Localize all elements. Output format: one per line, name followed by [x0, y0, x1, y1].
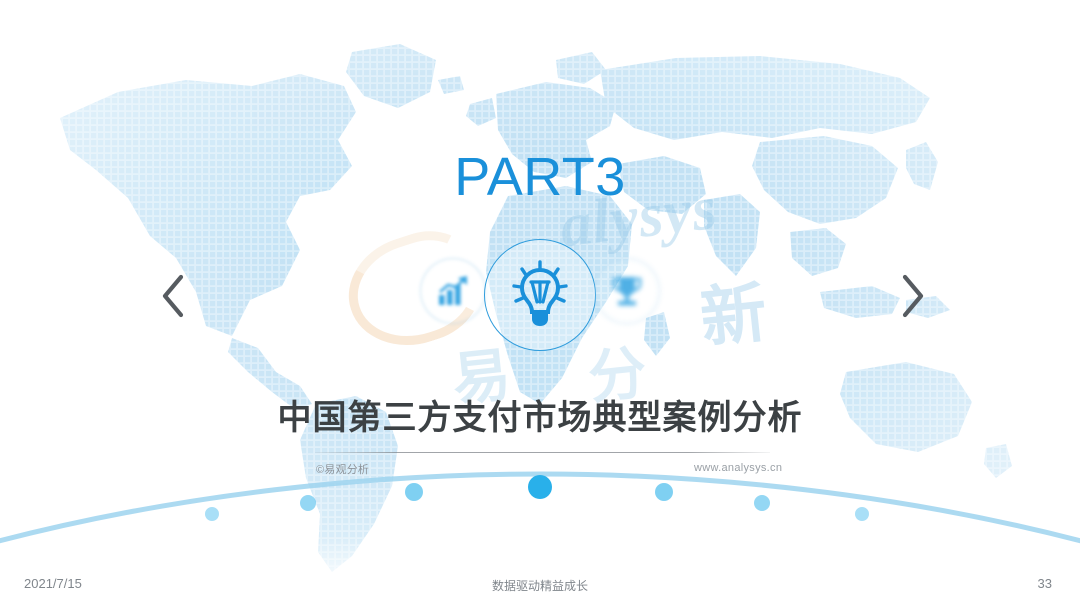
section-subtitle: 中国第三方支付市场典型案例分析 [0, 400, 1080, 437]
page-title: PART3 [0, 150, 1080, 204]
section-icon-lightbulb[interactable] [484, 239, 596, 351]
subtitle-divider [315, 452, 770, 453]
footer-tagline: 数据驱动精益成长 [0, 577, 1080, 594]
chevron-right-icon [899, 273, 927, 319]
prev-section-button[interactable] [150, 268, 196, 324]
slide-root: alysys 新 易 分 PART3 [0, 0, 1080, 608]
slide-content: PART3 [0, 0, 1080, 608]
chevron-left-icon [159, 273, 187, 319]
section-icon-bar-chart[interactable] [420, 258, 486, 324]
footer-page-number: 33 [1038, 576, 1052, 591]
website-url: www.analysys.cn [694, 462, 782, 474]
section-icon-trophy[interactable] [594, 258, 660, 324]
bar-chart-icon [434, 272, 472, 310]
copyright-credit: ©易观分析 [316, 461, 369, 477]
trophy-icon [608, 272, 646, 310]
slide-footer: 2021/7/15 数据驱动精益成长 33 [0, 564, 1080, 608]
lightbulb-icon [501, 256, 579, 334]
next-section-button[interactable] [890, 268, 936, 324]
